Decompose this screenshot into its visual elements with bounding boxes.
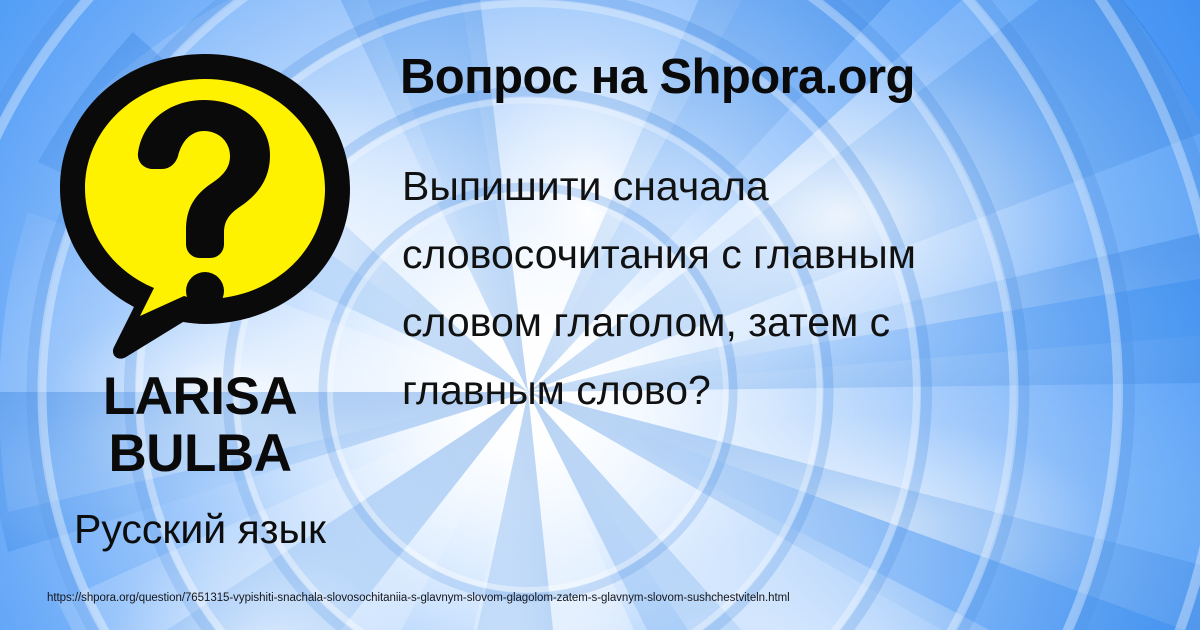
question-speech-bubble-icon bbox=[52, 48, 358, 360]
source-url[interactable]: https://shpora.org/question/7651315-vypi… bbox=[47, 591, 790, 605]
question-line: главным слово? bbox=[402, 356, 1162, 424]
question-line: словосочитания с главным bbox=[402, 220, 1162, 288]
question-text: Выпишити сначала словосочитания с главны… bbox=[402, 152, 1162, 424]
subject-label: Русский язык bbox=[0, 505, 400, 553]
question-line: Выпишити сначала bbox=[402, 152, 1162, 220]
question-card: Вопрос на Shpora.org Выпишити сначала сл… bbox=[0, 0, 1200, 630]
question-line: словом глаголом, затем с bbox=[402, 288, 1162, 356]
author-name-line: BULBA bbox=[0, 425, 400, 482]
page-title: Вопрос на Shpora.org bbox=[400, 48, 1190, 106]
author-name-line: LARISA bbox=[0, 368, 400, 425]
author-name: LARISA BULBA bbox=[0, 368, 400, 482]
